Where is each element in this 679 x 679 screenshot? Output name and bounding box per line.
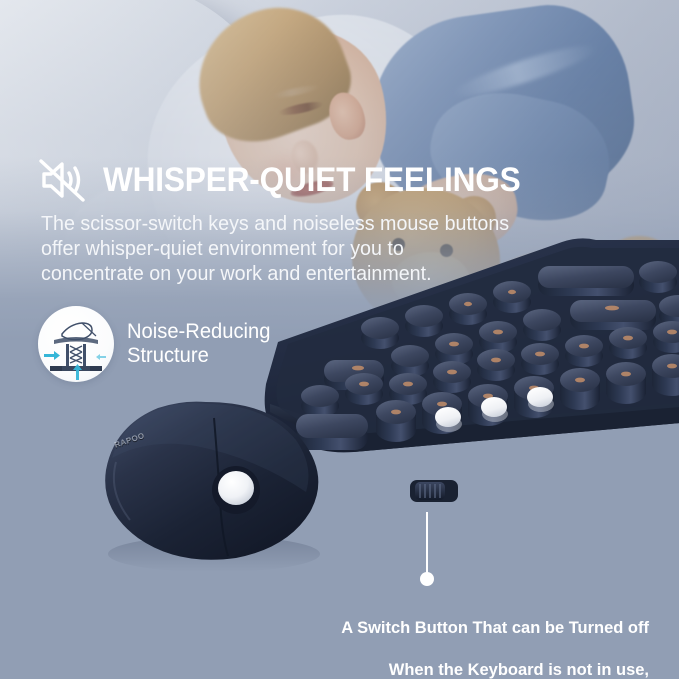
callout-dot [420,572,434,586]
indicator-button-3 [527,387,553,407]
body-copy-line-2: offer whisper-quiet environment for you … [41,236,521,261]
indicator-button-2 [481,397,507,417]
feature-badge-group: Noise-Reducing Structure [38,306,276,382]
indicator-button-1 [435,407,461,427]
body-copy: The scissor-switch keys and noiseless mo… [41,211,521,286]
mouse-illustration [86,396,338,576]
headline-row: WHISPER-QUIET FEELINGS [38,158,552,202]
callout-caption: A Switch Button That can be Turned off W… [242,596,649,679]
noise-reducing-structure-icon [38,306,114,382]
mute-speaker-icon [38,158,90,202]
callout-leader-line [426,512,428,574]
caption-line-2: When the Keyboard is not in use, [242,659,649,679]
product-feature-poster: RAPOO WHISPER-QUIET FEELINGS The scissor… [0,0,679,679]
product-mouse: RAPOO [86,396,338,576]
body-copy-line-1: The scissor-switch keys and noiseless mo… [41,211,521,236]
keyboard-side-power-switch[interactable] [408,470,460,512]
mouse-scroll-wheel [218,471,254,505]
noise-reducing-structure-badge [38,306,114,382]
body-copy-line-3: concentrate on your work and entertainme… [41,261,521,286]
caption-line-1: A Switch Button That can be Turned off [242,617,649,638]
page-title: WHISPER-QUIET FEELINGS [103,163,521,197]
feature-badge-label: Noise-Reducing Structure [127,320,270,368]
